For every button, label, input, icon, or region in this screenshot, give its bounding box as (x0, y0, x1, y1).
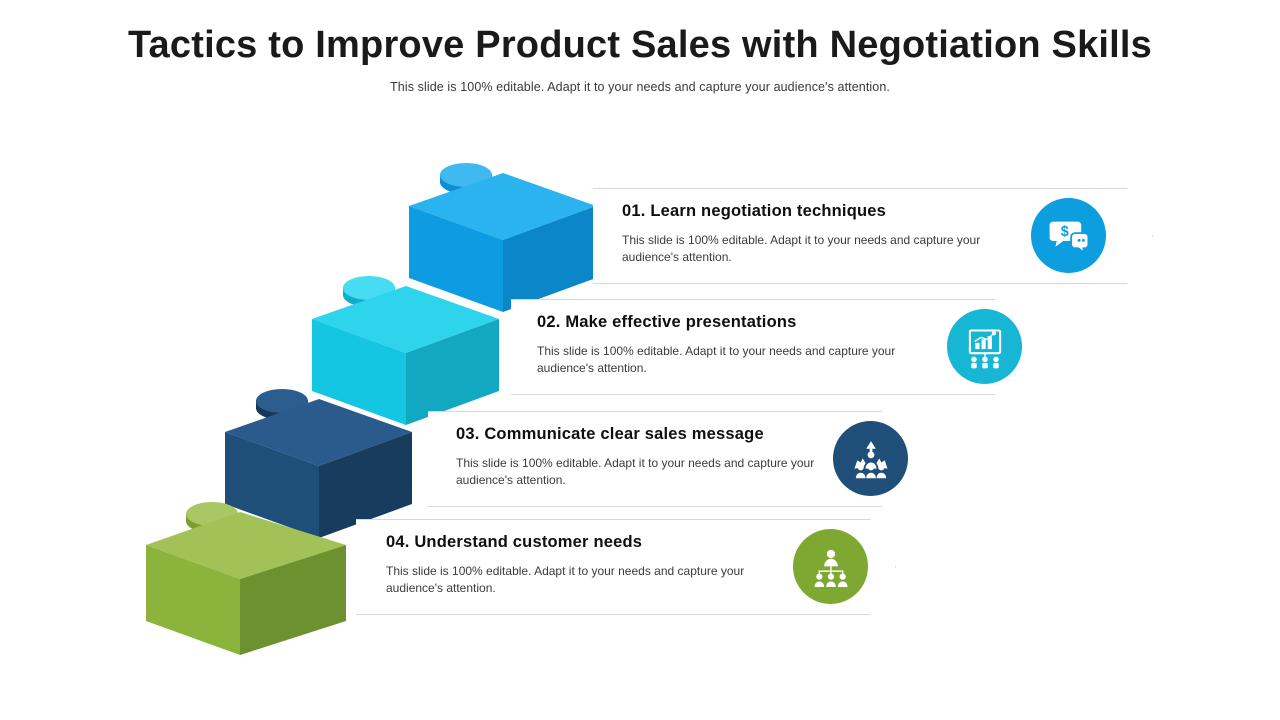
row-description: This slide is 100% editable. Adapt it to… (622, 232, 1012, 266)
list-item[interactable]: 01. Learn negotiation techniques This sl… (593, 188, 1153, 284)
lego-brick-01 (409, 163, 596, 312)
list-item[interactable]: 03. Communicate clear sales message This… (428, 411, 908, 507)
row-title: 03. Communicate clear sales message (456, 425, 764, 444)
lego-brick-04 (146, 502, 346, 655)
list-item[interactable]: 04. Understand customer needs This slide… (356, 519, 896, 615)
row-title: 02. Make effective presentations (537, 313, 797, 332)
lego-brick-03 (225, 389, 412, 538)
page-title: Tactics to Improve Product Sales with Ne… (0, 24, 1280, 67)
list-item[interactable]: 02. Make effective presentations This sl… (511, 299, 1021, 395)
row-description: This slide is 100% editable. Adapt it to… (386, 563, 776, 597)
speech-bubble-dollar-icon[interactable]: $ (1031, 198, 1106, 273)
page-subtitle: This slide is 100% editable. Adapt it to… (0, 80, 1280, 94)
row-description: This slide is 100% editable. Adapt it to… (456, 455, 846, 489)
people-recycle-icon[interactable] (833, 421, 908, 496)
row-title: 04. Understand customer needs (386, 533, 642, 552)
row-description: This slide is 100% editable. Adapt it to… (537, 343, 927, 377)
row-title: 01. Learn negotiation techniques (622, 202, 886, 221)
team-hierarchy-icon[interactable] (793, 529, 868, 604)
lego-brick-02 (312, 276, 499, 425)
svg-text:$: $ (1060, 224, 1068, 240)
presentation-chart-icon[interactable] (947, 309, 1022, 384)
